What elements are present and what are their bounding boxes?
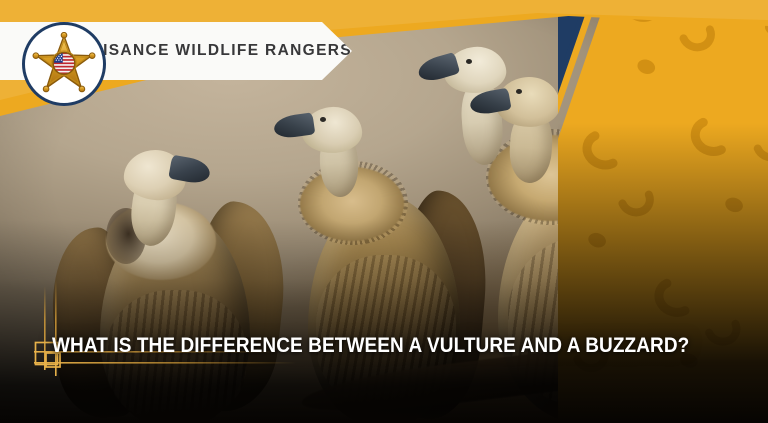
brand-badge — [22, 22, 106, 106]
brand-logo-banner[interactable]: NUISANCE WILDLIFE RANGERS — [22, 22, 352, 80]
page-title: WHAT IS THE DIFFERENCE BETWEEN A VULTURE… — [52, 334, 689, 358]
us-flag-icon — [52, 51, 77, 76]
brand-name-label: NUISANCE WILDLIFE RANGERS — [78, 42, 352, 60]
sheriff-star-badge-icon — [32, 32, 96, 96]
hero-banner: NUISANCE WILDLIFE RANGERS — [0, 0, 768, 423]
